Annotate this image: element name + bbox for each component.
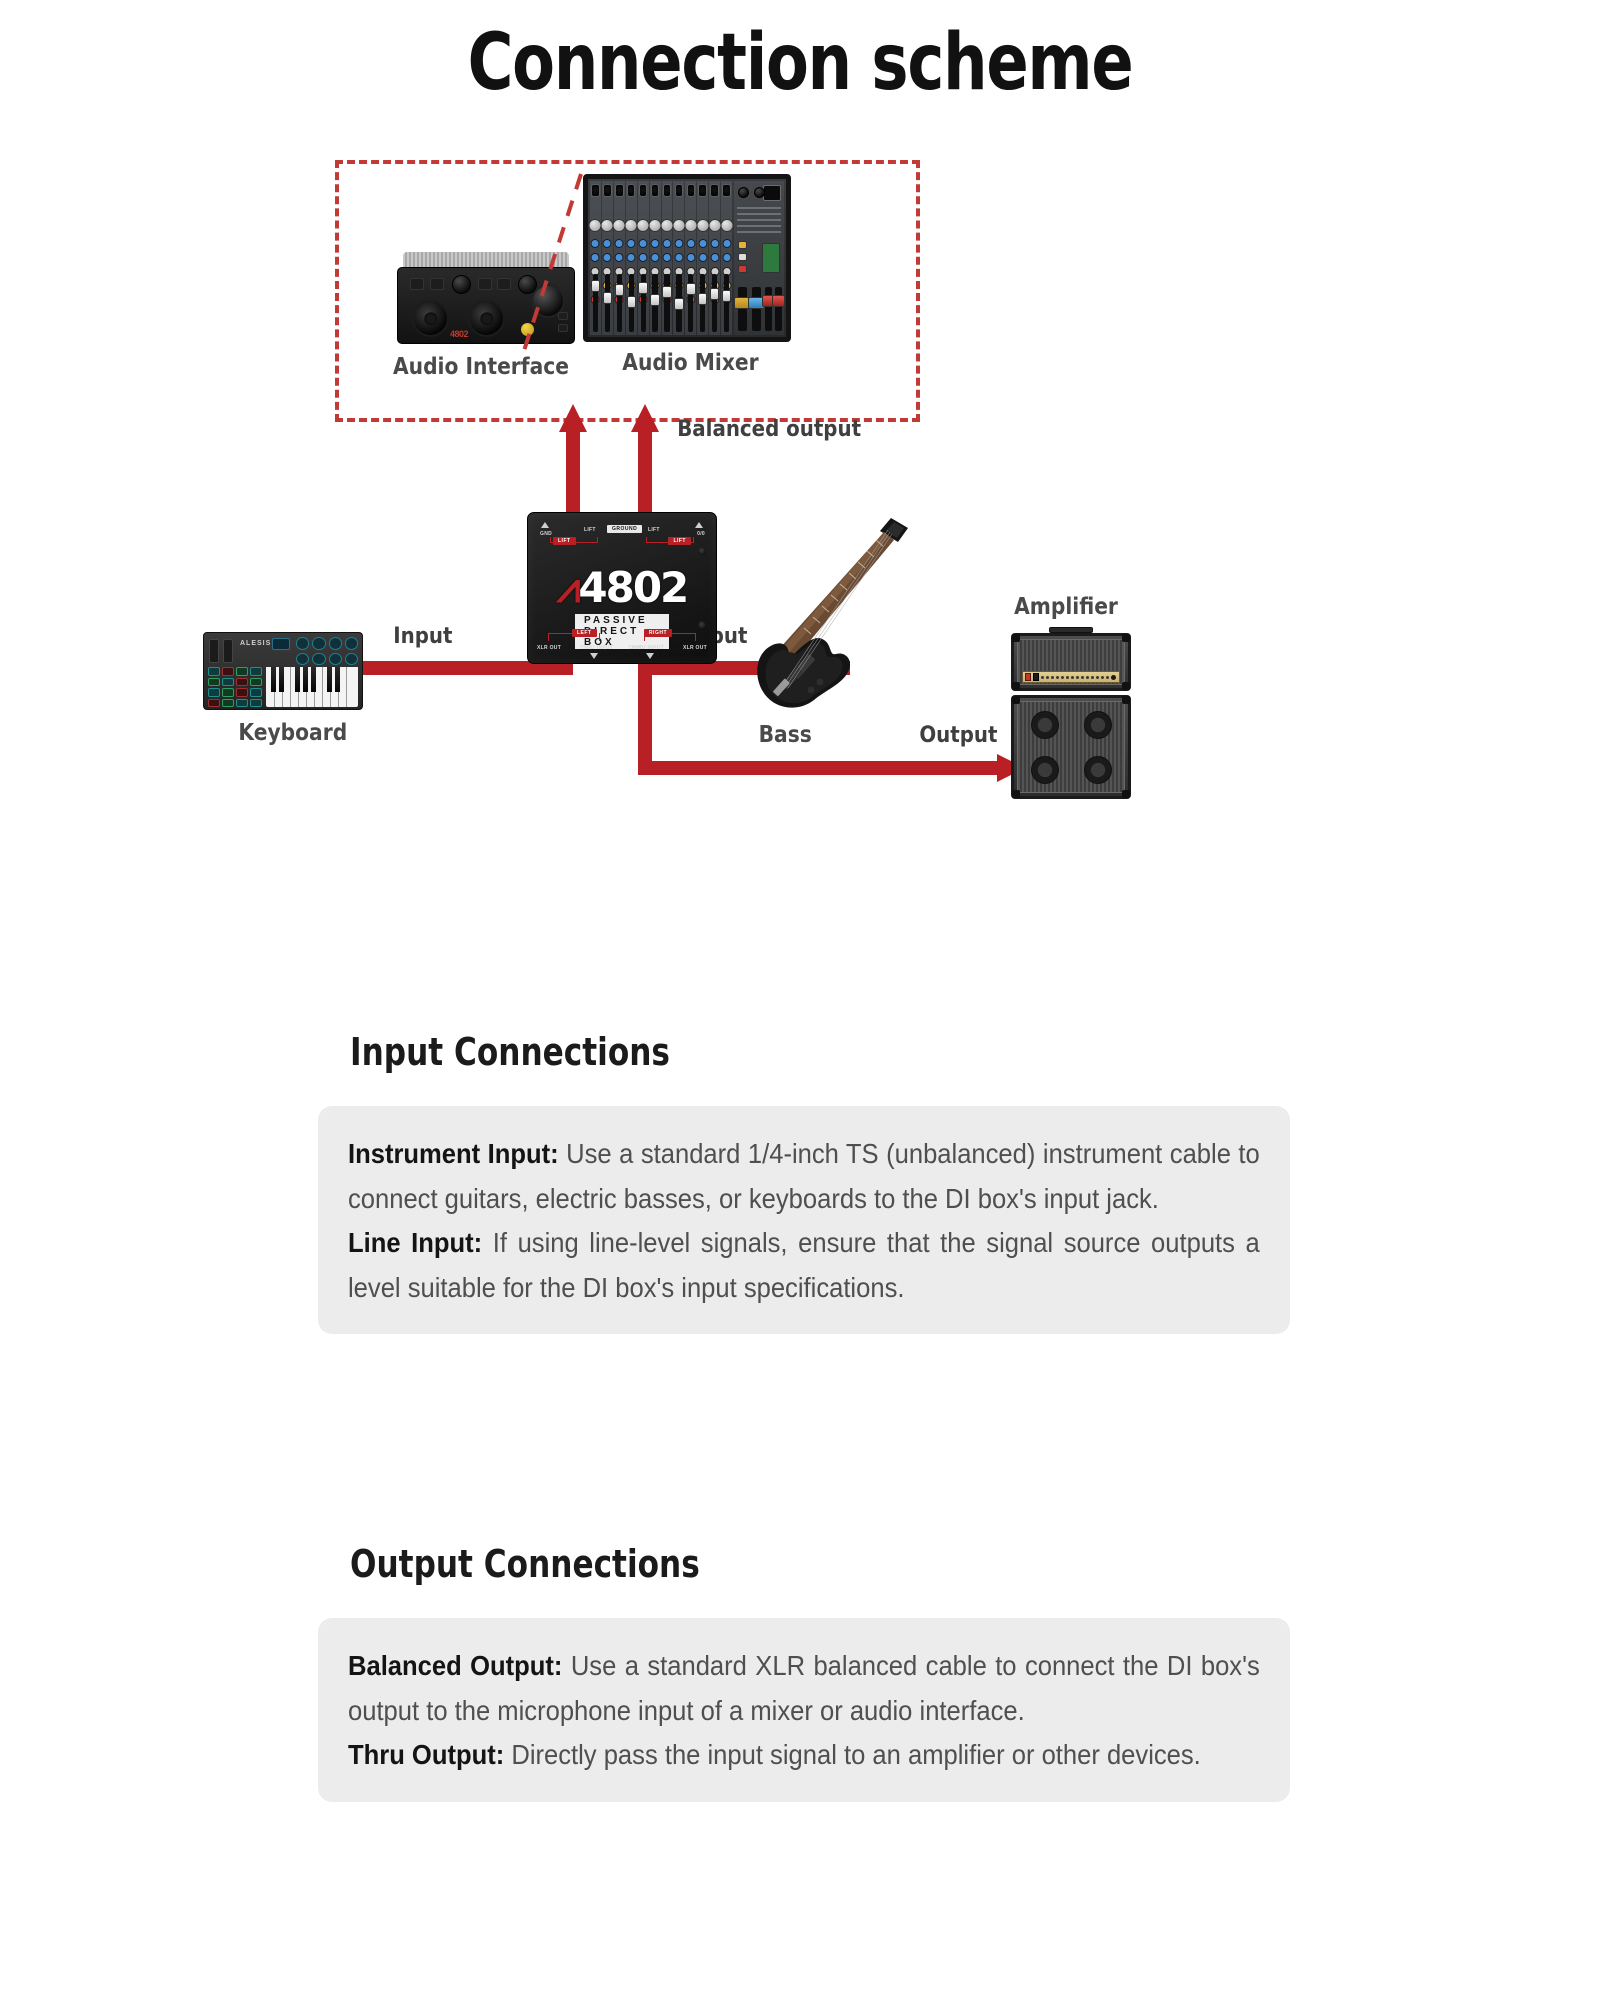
input-item-0: Instrument Input: Use a standard 1/4-inc… [348, 1132, 1260, 1221]
keyboard-encoder [329, 653, 342, 666]
label-balanced-output: Balanced output [677, 417, 861, 442]
di-box-device: GND LIFT GROUND LIFT 0/0 LIFT LIFT ⩘4802… [527, 512, 717, 664]
di-top-label-00: 0/0 [697, 531, 705, 537]
di-bottom-label-r2: THRU INPUT [631, 645, 664, 651]
amplifier-knob [1076, 676, 1079, 679]
di-trace-3 [597, 537, 598, 543]
keyboard-encoder [296, 653, 309, 666]
di-lift-tag-left: LIFT [553, 537, 576, 545]
di-trace-8 [548, 633, 574, 634]
amplifier-control-panel [1022, 671, 1120, 683]
di-screw-tr [698, 547, 706, 555]
amplifier-corner [1122, 634, 1130, 642]
di-model-number: 4802 [578, 563, 687, 612]
di-right-tag: RIGHT [644, 629, 672, 637]
input-item-1-text: If using line-level signals, ensure that… [348, 1227, 1260, 1303]
page-root: Connection scheme 4802 Au [0, 0, 1600, 2000]
keyboard-pad [208, 667, 220, 676]
di-trace-7 [548, 633, 549, 641]
keyboard-keys [266, 667, 358, 707]
input-connections-heading: Input Connections [350, 1030, 670, 1074]
amplifier-knob [1056, 676, 1059, 679]
keyboard-pad [236, 678, 248, 687]
amplifier-knob [1081, 676, 1084, 679]
amplifier-knob [1101, 676, 1104, 679]
di-ground-tag: GROUND [607, 525, 642, 533]
keyboard-pad [222, 667, 234, 676]
keyboard-wheels [209, 639, 233, 663]
di-trace-12 [670, 633, 696, 634]
di-screw-br [698, 621, 706, 629]
keyboard-encoder [296, 637, 309, 650]
amplifier-corner [1122, 696, 1130, 704]
keyboard-pad [250, 667, 262, 676]
amplifier-speaker [1031, 756, 1059, 784]
amplifier-cabinet-grille [1017, 701, 1125, 793]
amplifier-knob [1096, 676, 1099, 679]
bass-guitar-device [728, 514, 918, 714]
amplifier-device [1007, 625, 1135, 805]
label-output: Output [919, 723, 997, 748]
amplifier-cabinet [1011, 695, 1131, 799]
connection-diagram: 4802 Audio Interface [185, 132, 1425, 1032]
di-trace-9 [599, 633, 600, 641]
keyboard-pad [236, 667, 248, 676]
keyboard-pad [222, 699, 234, 708]
di-gnd-icon-right [695, 522, 703, 528]
di-trace-6 [646, 537, 647, 543]
di-bottom-label-r3: XLR OUT [683, 645, 707, 651]
arrow-balanced-output-right [631, 404, 659, 512]
keyboard-display [272, 638, 290, 650]
keyboard-pad [236, 688, 248, 697]
output-connections-heading: Output Connections [350, 1542, 700, 1586]
output-item-0-term: Balanced Output: [348, 1650, 562, 1681]
keyboard-encoder [312, 653, 325, 666]
di-input-arrow-right [646, 653, 654, 659]
amplifier-input-jack [1111, 675, 1116, 680]
page-title: Connection scheme [160, 18, 1440, 108]
amplifier-knob [1071, 676, 1074, 679]
amplifier-speaker [1031, 711, 1059, 739]
amplifier-corner [1012, 790, 1020, 798]
di-trace-5 [646, 542, 694, 543]
keyboard-encoder [345, 653, 358, 666]
di-model-logo: ⩘4802 [528, 563, 716, 613]
di-lift-tag-right: LIFT [668, 537, 691, 545]
amplifier-corner [1122, 790, 1130, 798]
amplifier-head [1011, 633, 1131, 691]
amplifier-standby-switch [1033, 673, 1039, 681]
keyboard-pad [236, 699, 248, 708]
amplifier-knob [1066, 676, 1069, 679]
bass-caption: Bass [759, 722, 812, 748]
output-item-0: Balanced Output: Use a standard XLR bala… [348, 1644, 1260, 1733]
keyboard-pad [250, 688, 262, 697]
input-connections-card: Instrument Input: Use a standard 1/4-inc… [318, 1106, 1290, 1334]
di-bottom-label-l1: XLR OUT [537, 645, 561, 651]
keyboard-pad [208, 699, 220, 708]
keyboard-pad [250, 678, 262, 687]
output-item-1-term: Thru Output: [348, 1739, 504, 1770]
keyboard-pad [250, 699, 262, 708]
label-input-left: Input [393, 624, 452, 649]
keyboard-caption: Keyboard [238, 720, 347, 746]
arrow-balanced-output-left [559, 404, 587, 512]
amplifier-corner [1122, 682, 1130, 690]
amplifier-speaker [1084, 756, 1112, 784]
di-input-arrow-left [590, 653, 598, 659]
di-top-label-lift-l: LIFT [584, 527, 596, 533]
keyboard-encoder [312, 637, 325, 650]
keyboard-pad [222, 678, 234, 687]
amplifier-knob [1086, 676, 1089, 679]
amplifier-knob [1061, 676, 1064, 679]
output-item-1-text: Directly pass the input signal to an amp… [504, 1739, 1201, 1770]
di-top-label-lift-r: LIFT [648, 527, 660, 533]
amplifier-corner [1012, 634, 1020, 642]
keyboard-encoders [296, 637, 358, 665]
amplifier-power-switch [1025, 673, 1031, 681]
output-item-1: Thru Output: Directly pass the input sig… [348, 1733, 1260, 1778]
input-item-0-term: Instrument Input: [348, 1138, 559, 1169]
keyboard-encoder [329, 637, 342, 650]
di-trace-13 [644, 633, 645, 641]
keyboard-pad [222, 688, 234, 697]
amplifier-knob [1106, 676, 1109, 679]
input-item-1-term: Line Input: [348, 1227, 482, 1258]
keyboard-encoder [345, 637, 358, 650]
di-gnd-icon-left [541, 522, 549, 528]
di-trace-11 [695, 633, 696, 641]
di-left-tag: LEFT [572, 629, 597, 637]
amplifier-knob [1091, 676, 1094, 679]
keyboard-pad [208, 688, 220, 697]
keyboard-mod-wheel [223, 639, 233, 663]
amplifier-corner [1012, 682, 1020, 690]
keyboard-brand-logo: ALESIS [240, 640, 271, 647]
input-item-1: Line Input: If using line-level signals,… [348, 1221, 1260, 1310]
amplifier-speaker [1084, 711, 1112, 739]
amplifier-caption: Amplifier [1014, 594, 1118, 620]
amplifier-knob [1041, 676, 1044, 679]
keyboard-device: ALESIS [203, 632, 363, 710]
output-connections-card: Balanced Output: Use a standard XLR bala… [318, 1618, 1290, 1802]
keyboard-pad [208, 678, 220, 687]
amplifier-corner [1012, 696, 1020, 704]
amplifier-knob [1051, 676, 1054, 679]
amplifier-knob [1046, 676, 1049, 679]
di-trace-2 [550, 542, 598, 543]
keyboard-pad-grid [208, 667, 262, 707]
di-bottom-label-l2: THRU INPUT [580, 645, 613, 651]
keyboard-pitch-wheel [209, 639, 219, 663]
